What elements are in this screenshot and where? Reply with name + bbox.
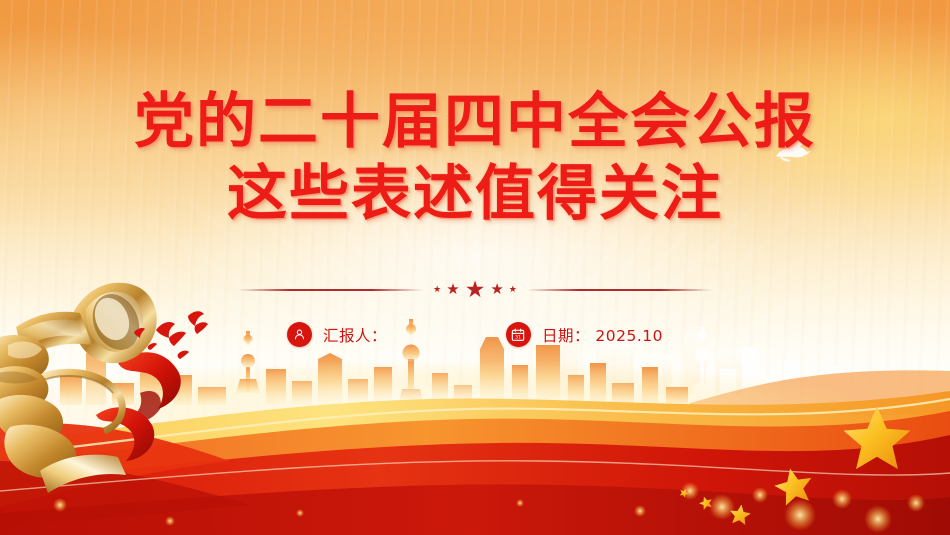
divider-star-1: ★ (433, 285, 441, 294)
title-block: 党的二十届四中全会公报 这些表述值得关注 (0, 92, 950, 224)
slide-content: 党的二十届四中全会公报 这些表述值得关注 ★ ★ ★ ★ ★ (0, 0, 950, 535)
person-icon (287, 322, 312, 347)
page-title-line-2: 这些表述值得关注 (0, 164, 950, 224)
divider-star-4: ★ (490, 282, 503, 297)
divider-star-2: ★ (446, 282, 459, 297)
divider-rule-right (527, 289, 712, 291)
page-title-line-1: 党的二十届四中全会公报 (0, 92, 950, 152)
poster-slide: 党的二十届四中全会公报 这些表述值得关注 ★ ★ ★ ★ ★ (0, 0, 950, 535)
calendar-icon: 31 (506, 322, 531, 347)
divider-star-3: ★ (465, 278, 486, 301)
presenter-field[interactable]: 汇报人： (287, 322, 398, 347)
divider: ★ ★ ★ ★ ★ (0, 278, 950, 301)
meta-row: 汇报人： 31 日期： 2025.10 (0, 322, 950, 347)
divider-stars: ★ ★ ★ ★ ★ (433, 278, 517, 301)
date-field[interactable]: 31 日期： 2025.10 (506, 322, 663, 347)
presenter-label: 汇报人： (323, 324, 387, 346)
divider-star-5: ★ (509, 285, 517, 294)
svg-text:31: 31 (516, 334, 522, 340)
date-text: 日期： 2025.10 (542, 324, 663, 346)
divider-rule-left (238, 289, 423, 291)
